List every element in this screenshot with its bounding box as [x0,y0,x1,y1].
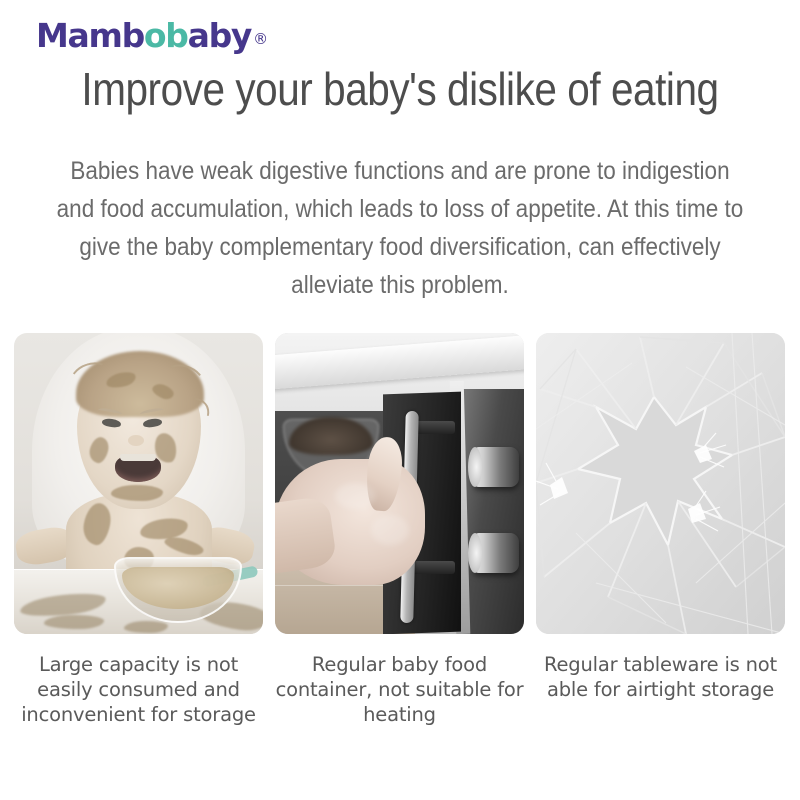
feature-card-caption: Regular baby food container, not suitabl… [275,652,524,727]
image-microwave-door: hand opening a microwave oven door with … [275,333,524,634]
baby-teeth-shape [120,454,156,461]
food-smudge-shape [111,485,163,501]
feature-card-row: crying messy baby in high chair with bow… [14,333,786,727]
broken-glass-illustration [536,333,785,634]
knuckle-highlight-shape [335,483,375,509]
brand-text-part2: ob [144,19,188,52]
image-crying-baby: crying messy baby in high chair with bow… [14,333,263,634]
microwave-control-panel-shape [461,389,524,634]
intro-paragraph: Babies have weak digestive functions and… [54,152,745,304]
feature-card-caption: Regular tableware is not able for airtig… [536,652,785,702]
feature-card-not-airtight: shattered broken glass with star shaped … [536,333,785,727]
tray-spill-shape [44,615,104,629]
page-title: Improve your baby's dislike of eating [48,62,752,116]
tray-spill-shape [124,621,168,633]
microwave-knob-shape [473,447,519,487]
brand-logo: Mamb ob aby ® [36,19,268,52]
promo-page: Mamb ob aby ® Improve your baby's dislik… [0,0,800,800]
baby-nose-shape [128,435,144,446]
image-broken-glass: shattered broken glass with star shaped … [536,333,785,634]
microwave-knob-shape [473,533,519,573]
feature-card-not-microwave-safe: hand opening a microwave oven door with … [275,333,524,727]
feature-card-caption: Large capacity is not easily consumed an… [14,652,263,727]
knuckle-highlight-shape [371,515,409,545]
brand-text-part3: aby [188,19,252,52]
image-alt-text: crying messy baby in high chair with bow… [14,333,15,334]
brand-text-part1: Mamb [36,19,144,52]
handle-brace-shape [411,561,455,574]
feature-card-large-capacity: crying messy baby in high chair with bow… [14,333,263,727]
registered-trademark-icon: ® [253,32,268,47]
